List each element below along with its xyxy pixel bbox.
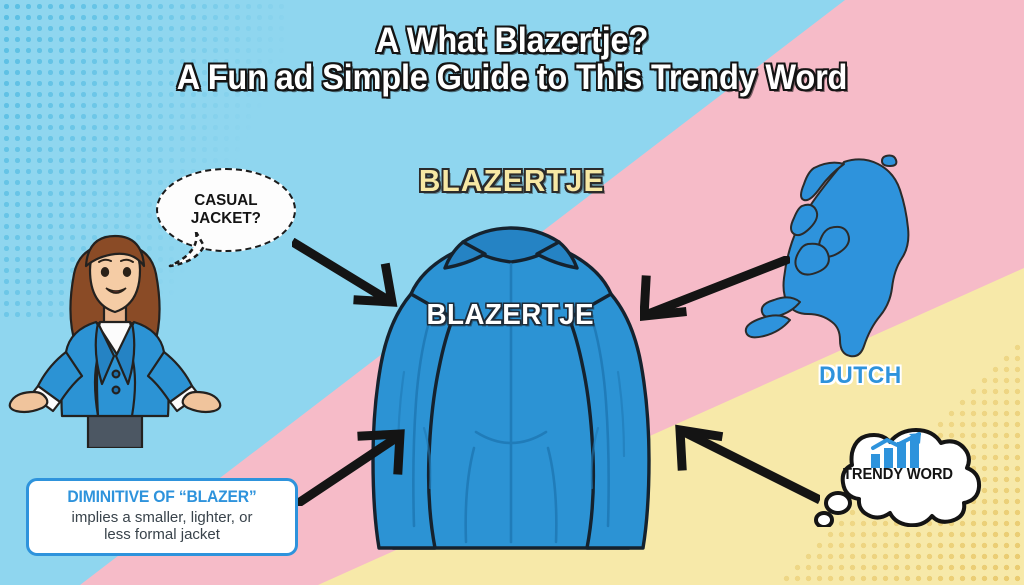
speech-bubble-tail — [166, 232, 210, 268]
definition-card: DIMINITIVE OF “BLAZER” implies a smaller… — [26, 478, 298, 556]
definition-card-body-line-1: implies a smaller, lighter, or — [37, 509, 287, 526]
title-line-1: A What Blazertje? — [36, 22, 988, 59]
netherlands-map-illustration — [744, 152, 952, 364]
bar-chart-growth-icon — [869, 432, 927, 468]
definition-card-title: DIMINITIVE OF “BLAZER” — [43, 488, 281, 507]
speech-bubble-line-2: JACKET? — [191, 210, 261, 227]
dutch-label-text: DUTCH — [819, 362, 902, 390]
title-line-2: A Fun ad Simple Guide to This Trendy Wor… — [36, 59, 988, 96]
page-title: A What Blazertje? A Fun ad Simple Guide … — [0, 22, 1024, 96]
infographic-canvas: A What Blazertje? A Fun ad Simple Guide … — [0, 0, 1024, 585]
dutch-label: DUTCH — [780, 362, 940, 390]
blue-blazer-back-illustration — [346, 222, 676, 562]
arrow-bottom-right — [674, 422, 820, 504]
speech-bubble-line-1: CASUAL — [194, 192, 257, 209]
main-heading-text: BLAZERTJE — [419, 163, 605, 199]
definition-card-body-line-2: less formal jacket — [37, 526, 287, 543]
